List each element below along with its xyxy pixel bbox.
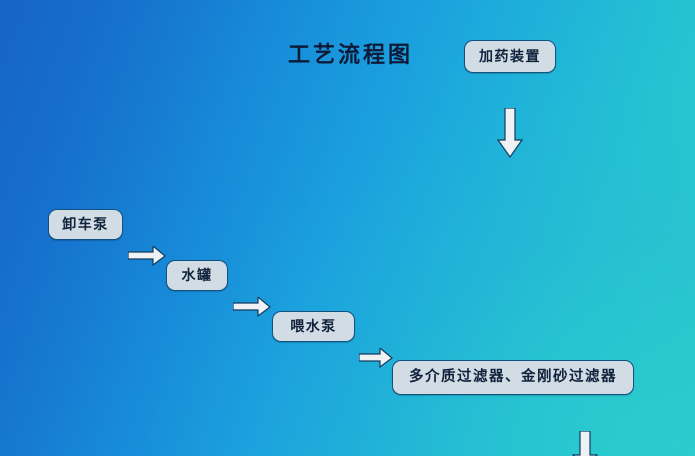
arrow-down-filters-to-feedpump (572, 431, 695, 456)
node-unloading-pump[interactable]: 卸车泵 (48, 209, 123, 240)
arrow-down-dosing-to-filters (497, 108, 695, 158)
node-feed-pump-upper[interactable]: 喂水泵 (272, 311, 355, 342)
slide-canvas: 工艺流程图 加药装置 卸车泵 水罐 喂水泵 多介质过滤器、金刚砂过滤器 喂水泵 (0, 0, 695, 456)
node-dosing-unit[interactable]: 加药装置 (464, 40, 556, 73)
node-water-tank[interactable]: 水罐 (166, 260, 228, 291)
node-filters[interactable]: 多介质过滤器、金刚砂过滤器 (392, 360, 634, 395)
